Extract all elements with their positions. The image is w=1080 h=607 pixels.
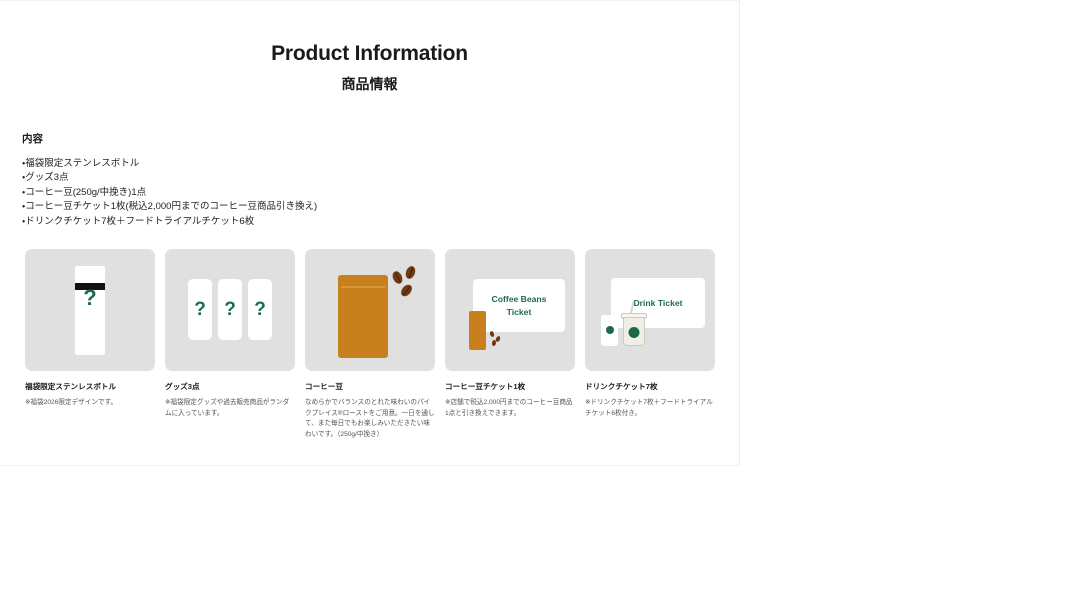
coffee-bean-icon	[399, 283, 414, 299]
product-grid: ? 福袋限定ステンレスボトル ※福袋2026限定デザインです。 ? ? ?	[25, 249, 715, 441]
product-title: 福袋限定ステンレスボトル	[25, 382, 155, 392]
cold-cup-icon	[623, 317, 645, 346]
product-description: ※ドリンクチケット7枚＋フードトライアルチケット6枚付き。	[585, 398, 715, 420]
product-card-bottle[interactable]: ? 福袋限定ステンレスボトル ※福袋2026限定デザインです。	[25, 249, 155, 441]
product-description: ※店舗で税込2,000円までのコーヒー豆商品1点と引き換えできます。	[445, 398, 575, 420]
coffee-bag-icon	[338, 280, 388, 358]
contents-list-item: ドリンクチケット7枚＋フードトライアルチケット6枚	[22, 215, 739, 230]
hot-cup-icon	[601, 315, 618, 346]
cup-logo-icon	[606, 326, 614, 334]
question-mark-icon: ?	[254, 299, 266, 321]
cup-logo-icon	[629, 327, 640, 338]
question-mark-icon: ?	[194, 299, 206, 321]
contents-section: 内容 福袋限定ステンレスボトル グッズ3点 コーヒー豆(250g/中挽き)1点 …	[0, 131, 739, 230]
product-title: グッズ3点	[165, 382, 295, 392]
goods-item-box: ?	[218, 279, 242, 340]
contents-list: 福袋限定ステンレスボトル グッズ3点 コーヒー豆(250g/中挽き)1点 コーヒ…	[22, 157, 739, 230]
question-mark-icon: ?	[25, 285, 155, 311]
product-information-panel: Product Information 商品情報 内容 福袋限定ステンレスボトル…	[0, 0, 740, 466]
ticket-label: Drink Ticket	[633, 297, 682, 309]
product-title: コーヒー豆チケット1枚	[445, 382, 575, 392]
goods-item-box: ?	[248, 279, 272, 340]
contents-list-item: コーヒー豆(250g/中挽き)1点	[22, 186, 739, 201]
product-description: ※福袋2026限定デザインです。	[25, 398, 155, 409]
page-title-ja: 商品情報	[0, 76, 739, 93]
ticket-label: Coffee Beans Ticket	[492, 293, 547, 318]
product-card-coffee-beans-ticket[interactable]: Coffee Beans Ticket コーヒー豆チケット1枚 ※店舗で税込2,…	[445, 249, 575, 441]
product-image-drink-ticket: Drink Ticket	[585, 249, 715, 371]
product-title: ドリンクチケット7枚	[585, 382, 715, 392]
product-image-bottle: ?	[25, 249, 155, 371]
contents-list-item: 福袋限定ステンレスボトル	[22, 157, 739, 172]
contents-list-item: グッズ3点	[22, 171, 739, 186]
coffee-bean-icon	[492, 340, 497, 347]
contents-list-item: コーヒー豆チケット1枚(税込2,000円までのコーヒー豆商品引き換え)	[22, 200, 739, 215]
product-image-coffee-beans	[305, 249, 435, 371]
coffee-beans-ticket-icon: Coffee Beans Ticket	[473, 279, 565, 332]
goods-item-box: ?	[188, 279, 212, 340]
product-card-coffee-beans[interactable]: コーヒー豆 なめらかでバランスのとれた味わいのパイクプレイス®ローストをご用意。…	[305, 249, 435, 441]
page-title-en: Product Information	[0, 41, 739, 66]
product-image-goods: ? ? ?	[165, 249, 295, 371]
product-description: ※福袋限定グッズや過去販売商品がランダムに入っています。	[165, 398, 295, 420]
mini-coffee-bag-icon	[469, 315, 486, 350]
product-title: コーヒー豆	[305, 382, 435, 392]
ticket-label-line2: Ticket	[492, 306, 547, 318]
coffee-bag-fold	[341, 286, 385, 288]
ticket-label-line1: Coffee Beans	[492, 293, 547, 305]
product-card-drink-ticket[interactable]: Drink Ticket ドリンクチケット7枚 ※ドリンクチケット7枚＋フードト…	[585, 249, 715, 441]
coffee-bean-icon	[404, 265, 417, 280]
product-card-goods[interactable]: ? ? ? グッズ3点 ※福袋限定グッズや過去販売商品がランダムに入っています。	[165, 249, 295, 441]
product-description: なめらかでバランスのとれた味わいのパイクプレイス®ローストをご用意。一日を通して…	[305, 398, 435, 441]
coffee-bean-icon	[391, 270, 405, 286]
page-header: Product Information 商品情報	[0, 1, 739, 93]
contents-heading: 内容	[22, 131, 739, 146]
question-mark-icon: ?	[224, 299, 236, 321]
product-image-coffee-beans-ticket: Coffee Beans Ticket	[445, 249, 575, 371]
goods-icon: ? ? ?	[165, 279, 295, 340]
